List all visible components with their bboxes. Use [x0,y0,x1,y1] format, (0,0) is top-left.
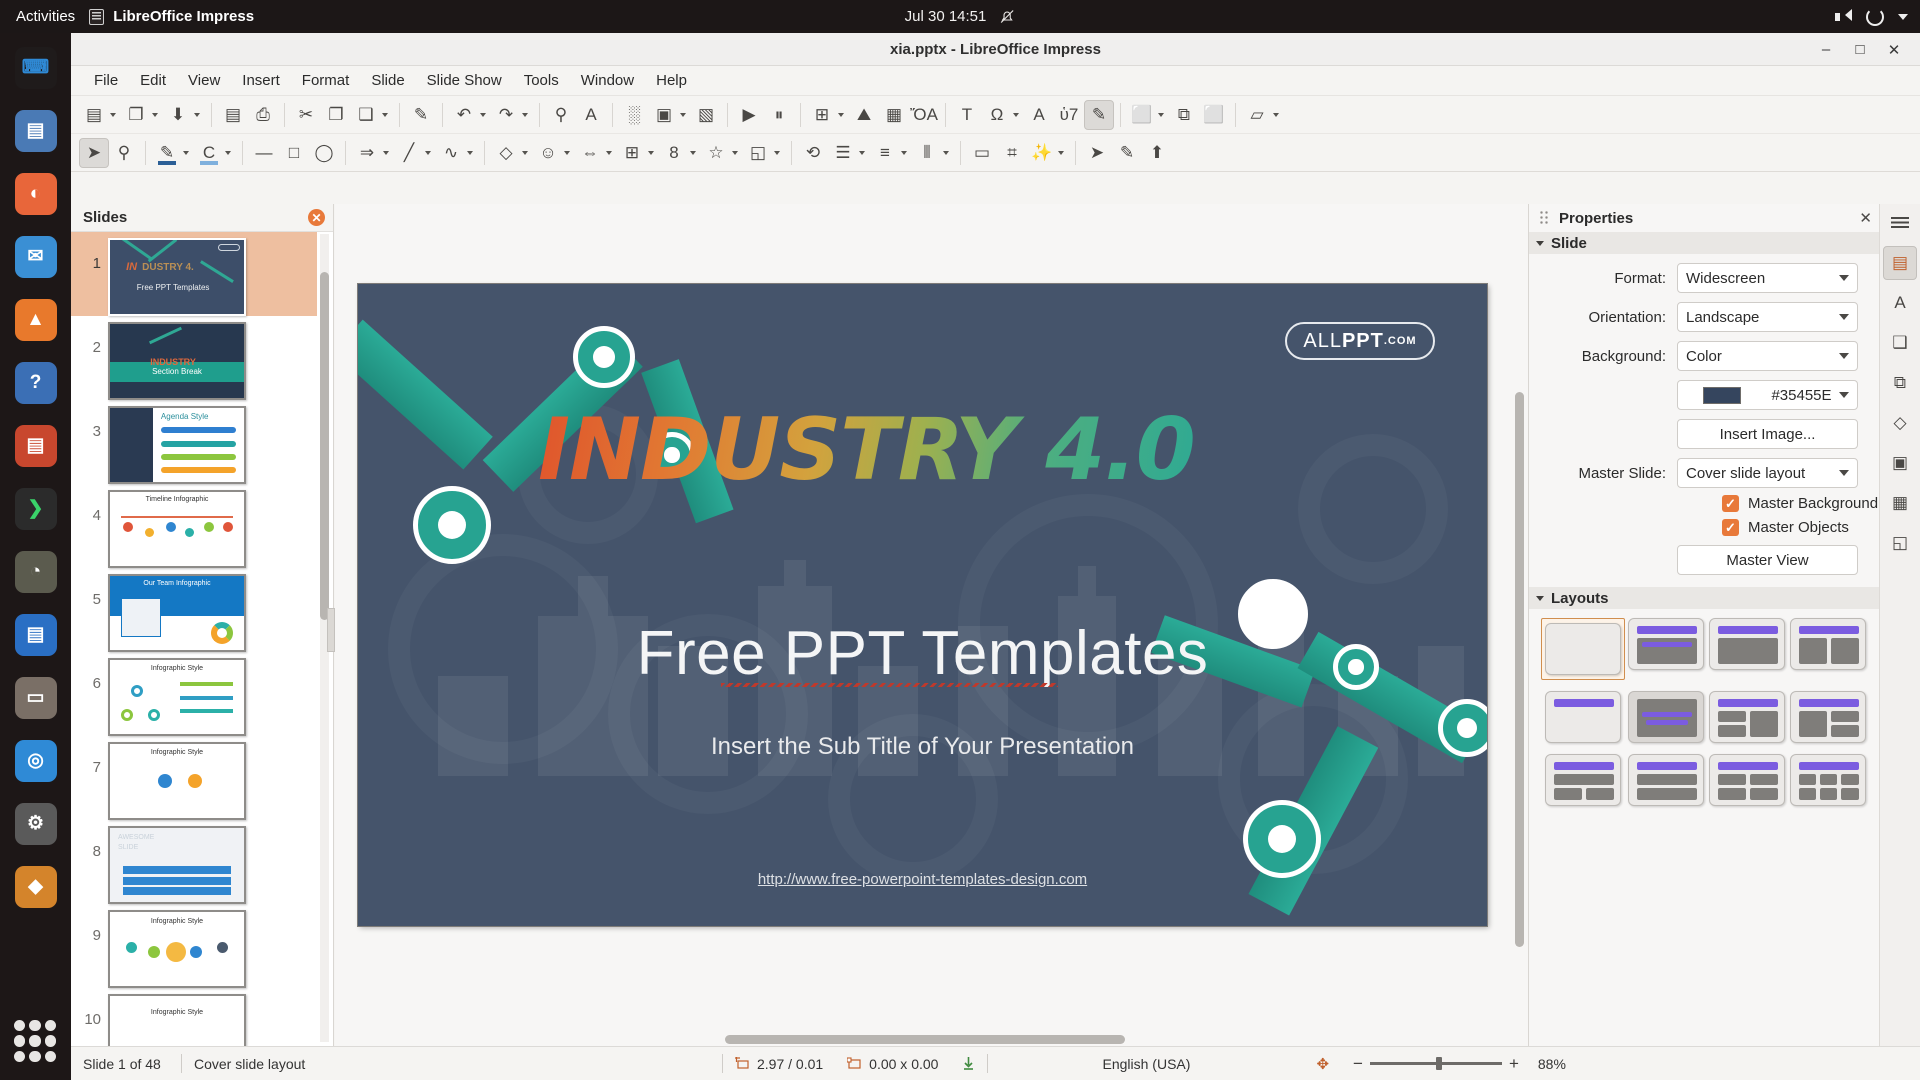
rotate-button[interactable]: ⟲ [798,138,828,168]
dock-item-settings[interactable]: ⚙ [7,795,64,852]
zoom-in-button[interactable]: + [1509,1054,1519,1074]
slide-thumbnail-1[interactable]: 1INDUSTRY 4.Free PPT Templates [71,232,317,316]
slide-thumbnail-4[interactable]: 4Timeline Infographic [71,484,317,568]
sidebar-tab-animation[interactable]: ▦ [1883,486,1917,520]
clock-button[interactable]: Jul 30 14:51 [905,8,1016,25]
save-document-dropdown-arrow[interactable] [194,113,200,117]
master-background-label: Master Background [1748,495,1878,512]
layout-part [1637,788,1697,800]
rectangle-button[interactable]: □ [279,138,309,168]
watermark-small: .COM [1384,335,1417,347]
insert-audio-video-icon: ▦ [886,105,902,125]
arrange-icon: ≡ [880,143,890,163]
copy-button[interactable]: ❐ [321,100,351,130]
menu-slide[interactable]: Slide [360,69,415,92]
slide-number: 4 [79,490,101,524]
redo-dropdown-arrow[interactable] [522,113,528,117]
master-view-row: Master View [1529,545,1858,575]
insert-special-character-button[interactable]: Ω [982,100,1012,130]
canvas-horizontal-scrollbar[interactable] [335,1035,1528,1044]
slide-thumbnail-image[interactable]: Agenda Style [108,406,246,484]
software-icon: ◆ [15,866,57,908]
slide-link-row: http://www.free-powerpoint-templates-des… [358,871,1487,888]
color-swatch [1703,387,1741,404]
slide-editing-area[interactable]: ALLPPT.COM INDUSTRY 4.0 Free PPT Templat… [335,204,1528,1046]
master-view-button[interactable]: Master View [1677,545,1858,575]
arrange-button[interactable]: ≡ [870,138,900,168]
slide-subtitle-text[interactable]: Insert the Sub Title of Your Presentatio… [358,733,1487,761]
toolbar-separator [612,103,613,127]
menu-slide-show[interactable]: Slide Show [416,69,513,92]
insert-table-dropdown-arrow[interactable] [838,113,844,117]
background-color-value: #35455E [1771,387,1831,404]
arrow-shape-button[interactable]: ⇒ [352,138,382,168]
power-icon [1866,8,1884,26]
slide-number: 3 [79,406,101,440]
layout-three-content-bottom[interactable] [1541,754,1625,806]
layout-six-content[interactable] [1787,754,1868,806]
slide-thumbnail-image[interactable]: Infographic Style [108,742,246,820]
window-titlebar: xia.pptx - LibreOffice Impress – □ ✕ [71,33,1920,66]
insert-hyperlink-button[interactable]: ὑ7 [1054,100,1084,130]
slide-properties-dropdown-arrow[interactable] [1273,113,1279,117]
crop-image-button[interactable]: ⌗ [997,138,1027,168]
active-app-label: LibreOffice Impress [113,8,254,25]
slide-hyperlink[interactable]: http://www.free-powerpoint-templates-des… [758,871,1087,888]
line-color-button[interactable]: ✎ [152,138,182,168]
canvas-vertical-scrollbar[interactable] [1515,212,1524,1038]
symbol-shapes-dropdown-arrow[interactable] [564,151,570,155]
toolbar-separator [945,103,946,127]
toolbar-separator [484,141,485,165]
active-app-indicator[interactable]: LibreOffice Impress [89,8,254,25]
block-arrows-dropdown-arrow[interactable] [606,151,612,155]
zoom-out-button[interactable]: − [1353,1054,1363,1074]
clone-formatting-button[interactable]: ✎ [406,100,436,130]
file-manager-icon: ▭ [15,677,57,719]
slide-title-inner: Free PPT Templates [637,619,1209,688]
ellipse-icon: ◯ [314,143,333,163]
layout-part [1799,788,1816,800]
terminal-icon: ❯ [15,488,57,530]
background-color-select[interactable]: #35455E [1677,380,1858,410]
slide-thumbnail-9[interactable]: 9Infographic Style [71,904,317,988]
undo-button[interactable]: ↶ [449,100,479,130]
drag-handle-icon[interactable] [1539,210,1549,226]
master-slide-button[interactable]: ▧ [691,100,721,130]
print-icon: ⎙ [256,105,270,125]
slide-thumbnail-3[interactable]: 3Agenda Style [71,400,317,484]
find-and-replace-button[interactable]: ⚲ [546,100,576,130]
dock-item-firefox[interactable]: ◐ [7,165,64,222]
properties-icon: ▤ [1892,253,1908,273]
arrow-shape-dropdown-arrow[interactable] [383,151,389,155]
insert-line-button[interactable]: — [249,138,279,168]
slide-properties-icon: ▱ [1250,105,1263,125]
export-pdf-button[interactable]: ▤ [218,100,248,130]
dock-item-software[interactable]: ◆ [7,858,64,915]
maximize-button[interactable]: □ [1850,40,1870,60]
spelling-icon: A [585,105,596,125]
menu-tools[interactable]: Tools [513,69,570,92]
stars-and-banners-button[interactable]: ☆ [701,138,731,168]
curves-and-polygons-dropdown-arrow[interactable] [467,151,473,155]
duplicate-slide-button[interactable]: ⧉ [1169,100,1199,130]
insert-image-button[interactable]: Insert Image... [1677,419,1858,449]
insert-image-row: Insert Image... [1529,419,1858,449]
block-arrows-icon: ⇔ [582,143,599,163]
master-slide-value: Cover slide layout [1686,465,1805,482]
layout-part [1637,774,1697,785]
zoom-slider[interactable] [1370,1062,1502,1065]
layout-preview [1545,754,1621,806]
fit-slide-icon: ✥ [1316,1055,1329,1073]
insert-fontwork-icon: A [1033,105,1044,125]
volume-icon [1834,8,1852,26]
layout-preview [1545,691,1621,743]
save-document-button[interactable]: ⬇ [163,100,193,130]
dock-item-file-manager[interactable]: ▭ [7,669,64,726]
shadow-button[interactable]: ▭ [967,138,997,168]
align-objects-dropdown-arrow[interactable] [859,151,865,155]
save-indicator[interactable] [950,1054,987,1074]
menu-view[interactable]: View [177,69,231,92]
display-grid-button[interactable]: ░ [619,100,649,130]
dock-item-vlc[interactable]: ▲ [7,291,64,348]
fill-color-button[interactable]: ὘C [194,138,224,168]
layout-four-content[interactable] [1706,754,1787,806]
filter-dropdown-arrow[interactable] [1058,151,1064,155]
select-tool-button[interactable]: ➤ [79,138,109,168]
layout-part [1799,762,1859,770]
new-slide-icon: ⬜ [1131,105,1152,125]
layout-name: Cover slide layout [182,1054,722,1074]
menu-help[interactable]: Help [645,69,698,92]
distribute-selection-button[interactable]: ⦀ [912,138,942,168]
layout-two-content[interactable] [1787,618,1868,680]
callout-shapes-dropdown-arrow[interactable] [690,151,696,155]
arrange-dropdown-arrow[interactable] [901,151,907,155]
layout-two-content-split-right[interactable] [1787,691,1868,743]
lines-and-arrows-dropdown-arrow[interactable] [425,151,431,155]
window-title: xia.pptx - LibreOffice Impress [890,41,1101,58]
arrow-shape-icon: ⇒ [360,143,374,163]
3d-objects-button[interactable]: ◱ [743,138,773,168]
slide-title-text[interactable]: Free PPT Templates [358,618,1487,689]
new-document-icon: ▤ [86,105,102,125]
vscode-icon: ⌨ [15,47,57,89]
toolbar-separator [145,141,146,165]
open-document-button[interactable]: ❐ [121,100,151,130]
layout-part [1718,725,1746,737]
layout-part [1586,788,1614,800]
language[interactable]: English (USA) [988,1054,1304,1074]
insert-special-character-dropdown-arrow[interactable] [1013,113,1019,117]
toolbar-separator [539,103,540,127]
new-document-button[interactable]: ▤ [79,100,109,130]
allppt-watermark: ALLPPT.COM [1285,322,1435,360]
block-arrows-button[interactable]: ⇔ [575,138,605,168]
start-from-first-slide-button[interactable]: ▶ [734,100,764,130]
dock-item-thunderbird[interactable]: ✉ [7,228,64,285]
crop-image-icon: ⌗ [1007,143,1017,163]
drawing-toolbar: ➤⚲✎὘C—□◯⇒╱∿◇☺⇔⊞὞8☆◱⟲☰≡⦀▭⌗✨➤✎⬆ [71,134,1920,172]
layouts-section-header[interactable]: Layouts [1529,587,1880,609]
toolbar-separator [345,141,346,165]
new-document-dropdown-arrow[interactable] [110,113,116,117]
master-background-checkbox-row[interactable]: ✓ Master Background [1722,495,1880,512]
libreoffice-writer-icon: ▤ [15,614,57,656]
start-from-current-slide-button[interactable]: ⏸ [764,100,794,130]
slide-thumbnail-8[interactable]: 8AWESOMESLIDE [71,820,317,904]
layout-part [1750,788,1778,800]
slide-number: 1 [79,238,101,272]
duplicate-slide-icon: ⧉ [1178,105,1190,125]
zoom-level[interactable]: 88% [1526,1056,1566,1072]
layout-part [1554,762,1614,770]
align-objects-icon: ☰ [835,143,850,163]
layout-part [1750,711,1778,737]
dock-item-files-nautilus[interactable]: ▤ [7,102,64,159]
sidebar-tab-gallery[interactable]: ❑ [1883,326,1917,360]
slide-thumbnail-10[interactable]: 10Infographic Style [71,988,317,1046]
slide-thumbnail-6[interactable]: 6Infographic Style [71,652,317,736]
slide-section-header[interactable]: Slide [1529,232,1880,254]
ubuntu-dock: ⌨▤◐✉▲?▤❯◔▤▭◎⚙◆ [0,33,71,1080]
sidebar-tab-slide-transition[interactable]: ◱ [1883,526,1917,560]
dock-item-libreoffice-writer[interactable]: ▤ [7,606,64,663]
cut-button[interactable]: ✂ [291,100,321,130]
symbol-shapes-button[interactable]: ☺ [533,138,563,168]
align-objects-button[interactable]: ☰ [828,138,858,168]
slide-thumbnail-2[interactable]: 2Section BreakINDUSTRY [71,316,317,400]
slides-panel-title: Slides [83,209,127,226]
gear-joint-icon [573,326,635,388]
fit-slide-button[interactable]: ✥ [1304,1054,1341,1074]
new-slide-dropdown-arrow[interactable] [1158,113,1164,117]
layouts-section-label: Layouts [1551,590,1609,607]
show-gluepoint-functions-button[interactable]: ✎ [1112,138,1142,168]
system-tray[interactable] [1834,8,1908,26]
menu-insert[interactable]: Insert [231,69,291,92]
dock-item-libreoffice-impress[interactable]: ▤ [7,417,64,474]
stars-and-banners-dropdown-arrow[interactable] [732,151,738,155]
display-views-button[interactable]: ▣ [649,100,679,130]
styles-icon: A [1894,293,1905,313]
navigator-icon: ⧉ [1894,373,1906,393]
layout-centered-text[interactable] [1625,691,1706,743]
orientation-label: Orientation: [1529,309,1677,326]
toolbar-separator [960,141,961,165]
print-button[interactable]: ⎙ [248,100,278,130]
panel-splitter-handle[interactable] [327,608,335,652]
menu-format[interactable]: Format [291,69,361,92]
start-from-current-slide-icon: ⏸ [775,105,784,125]
chevron-down-icon [1898,14,1908,20]
close-button[interactable]: ✕ [1884,40,1904,60]
files-nautilus-icon: ▤ [15,110,57,152]
insert-text-box-button[interactable]: T [952,100,982,130]
master-slide-select[interactable]: Cover slide layout [1677,458,1858,488]
open-document-dropdown-arrow[interactable] [152,113,158,117]
dock-item-gimp[interactable]: ◔ [7,543,64,600]
delete-slide-button[interactable]: ⬜ [1199,100,1229,130]
callout-shapes-button[interactable]: ὞8 [659,138,689,168]
layout-title-blank[interactable] [1541,691,1625,743]
sidebar-tab-properties[interactable]: ▤ [1883,246,1917,280]
gallery-icon: ❑ [1892,333,1907,353]
slide-thumbnail-image[interactable]: AWESOMESLIDE [108,826,246,904]
flowchart-shapes-button[interactable]: ⊞ [617,138,647,168]
slide-thumbnail-7[interactable]: 7Infographic Style [71,736,317,820]
3d-objects-dropdown-arrow[interactable] [774,151,780,155]
layout-part [1718,626,1778,634]
chevron-down-icon [1839,275,1849,281]
points-button[interactable]: ➤ [1082,138,1112,168]
dock-item-vscode[interactable]: ⌨ [7,39,64,96]
paste-button[interactable]: ❑ [351,100,381,130]
gimp-icon: ◔ [15,551,57,593]
sidebar-tab-bar: ▤A❑⧉◇▣▦◱ [1879,204,1920,1046]
slide-thumbnail-image[interactable]: Timeline Infographic [108,490,246,568]
chevron-down-icon [1839,392,1849,398]
new-slide-button[interactable]: ⬜ [1127,100,1157,130]
rectangle-icon: □ [289,143,299,163]
layout-two-content-split-left[interactable] [1706,691,1787,743]
close-icon[interactable]: ✕ [1859,209,1872,227]
show-draw-functions-button[interactable]: ✎ [1084,100,1114,130]
layout-title-only-content[interactable] [1706,618,1787,680]
layout-two-rows[interactable] [1625,754,1706,806]
chrome-icon: ◎ [15,740,57,782]
sidebar-tab-master-slides[interactable]: ▣ [1883,446,1917,480]
close-icon[interactable]: ✕ [308,209,325,226]
paste-icon: ❑ [358,105,373,125]
checkbox-checked-icon[interactable]: ✓ [1722,519,1739,536]
cursor-position: 2.97 / 0.01 [723,1054,835,1074]
layout-part [1554,699,1614,707]
paste-dropdown-arrow[interactable] [382,113,388,117]
background-row: Background: Color [1529,341,1858,371]
show-applications-button[interactable] [14,1020,56,1062]
fill-color-icon: ὘C [203,143,215,163]
impress-doc-icon [89,9,104,25]
sidebar-settings-icon[interactable] [1883,206,1917,240]
to-foreground-button[interactable]: ⬆ [1142,138,1172,168]
distribute-selection-dropdown-arrow[interactable] [943,151,949,155]
save-document-icon: ⬇ [171,105,185,125]
ellipse-button[interactable]: ◯ [309,138,339,168]
display-views-dropdown-arrow[interactable] [680,113,686,117]
insert-fontwork-button[interactable]: A [1024,100,1054,130]
layout-part [1718,699,1778,707]
layout-part [1799,638,1827,664]
insert-audio-video-button[interactable]: ▦ [879,100,909,130]
find-and-replace-icon: ⚲ [555,105,567,125]
undo-icon: ↶ [457,105,471,125]
slide-thumbnail-image[interactable]: Our Team Infographic [108,574,246,652]
slide-count: Slide 1 of 48 [71,1054,181,1074]
sidebar-tab-shapes[interactable]: ◇ [1883,406,1917,440]
zoom-and-pan-button[interactable]: ⚲ [109,138,139,168]
spelling-button[interactable]: A [576,100,606,130]
curves-and-polygons-button[interactable]: ∿ [436,138,466,168]
lines-and-arrows-button[interactable]: ╱ [394,138,424,168]
menu-edit[interactable]: Edit [129,69,177,92]
dock-item-terminal[interactable]: ❯ [7,480,64,537]
sidebar-tab-navigator[interactable]: ⧉ [1883,366,1917,400]
insert-table-button[interactable]: ⊞ [807,100,837,130]
slide-number: 8 [79,826,101,860]
slide-thumbnail-image[interactable]: Infographic Style [108,994,246,1046]
slide-thumbnail-image[interactable]: Infographic Style [108,910,246,988]
layout-part [1718,774,1746,785]
format-select[interactable]: Widescreen [1677,263,1858,293]
toolbar-separator [399,103,400,127]
master-objects-checkbox-row[interactable]: ✓ Master Objects [1722,519,1880,536]
minimize-button[interactable]: – [1816,40,1836,60]
sidebar-deck-title: Properties ✕ [1529,204,1880,232]
toolbar-separator [800,103,801,127]
activities-button[interactable]: Activities [0,8,89,25]
fill-color-dropdown-arrow[interactable] [225,151,231,155]
dock-item-help[interactable]: ? [7,354,64,411]
thunderbird-icon: ✉ [15,236,57,278]
format-row: Format: Widescreen [1529,263,1858,293]
layout-title-content[interactable] [1625,618,1706,680]
undo-dropdown-arrow[interactable] [480,113,486,117]
background-select[interactable]: Color [1677,341,1858,371]
shadow-icon: ▭ [974,143,990,163]
show-gluepoint-functions-icon: ✎ [1120,143,1134,163]
insert-chart-icon: ὌA [910,105,938,125]
basic-shapes-dropdown-arrow[interactable] [522,151,528,155]
layout-part [1718,638,1778,664]
to-foreground-icon: ⬆ [1150,143,1164,163]
slides-panel: Slides ✕ 1INDUSTRY 4.Free PPT Templates2… [71,204,334,1046]
slide-thumbnail-image[interactable]: INDUSTRY 4.Free PPT Templates [108,238,246,316]
copy-icon: ❐ [328,105,343,125]
toolbar-separator [1075,141,1076,165]
slide-thumbnail-image[interactable]: Section BreakINDUSTRY [108,322,246,400]
layout-part [1642,642,1692,647]
symbol-shapes-icon: ☺ [539,143,556,163]
redo-button[interactable]: ↷ [491,100,521,130]
menu-file[interactable]: File [83,69,129,92]
flowchart-shapes-dropdown-arrow[interactable] [648,151,654,155]
slide-thumbnail-5[interactable]: 5Our Team Infographic [71,568,317,652]
insert-chart-button[interactable]: ὌA [909,100,939,130]
sidebar-tab-styles[interactable]: A [1883,286,1917,320]
insert-image-button[interactable]: ⛰ [849,100,879,130]
layout-blank[interactable] [1541,618,1625,680]
menu-window[interactable]: Window [570,69,645,92]
checkbox-checked-icon[interactable]: ✓ [1722,495,1739,512]
orientation-select[interactable]: Landscape [1677,302,1858,332]
slides-panel-header: Slides ✕ [71,204,333,232]
dock-item-chrome[interactable]: ◎ [7,732,64,789]
line-color-dropdown-arrow[interactable] [183,151,189,155]
flowchart-shapes-icon: ⊞ [625,143,639,163]
slide-properties-button[interactable]: ▱ [1242,100,1272,130]
slide-thumbnail-image[interactable]: Infographic Style [108,658,246,736]
slide-canvas[interactable]: ALLPPT.COM INDUSTRY 4.0 Free PPT Templat… [358,284,1487,926]
insert-line-icon: — [256,143,273,163]
basic-shapes-button[interactable]: ◇ [491,138,521,168]
filter-button[interactable]: ✨ [1027,138,1057,168]
firefox-icon: ◐ [15,173,57,215]
select-tool-icon: ➤ [87,143,101,163]
